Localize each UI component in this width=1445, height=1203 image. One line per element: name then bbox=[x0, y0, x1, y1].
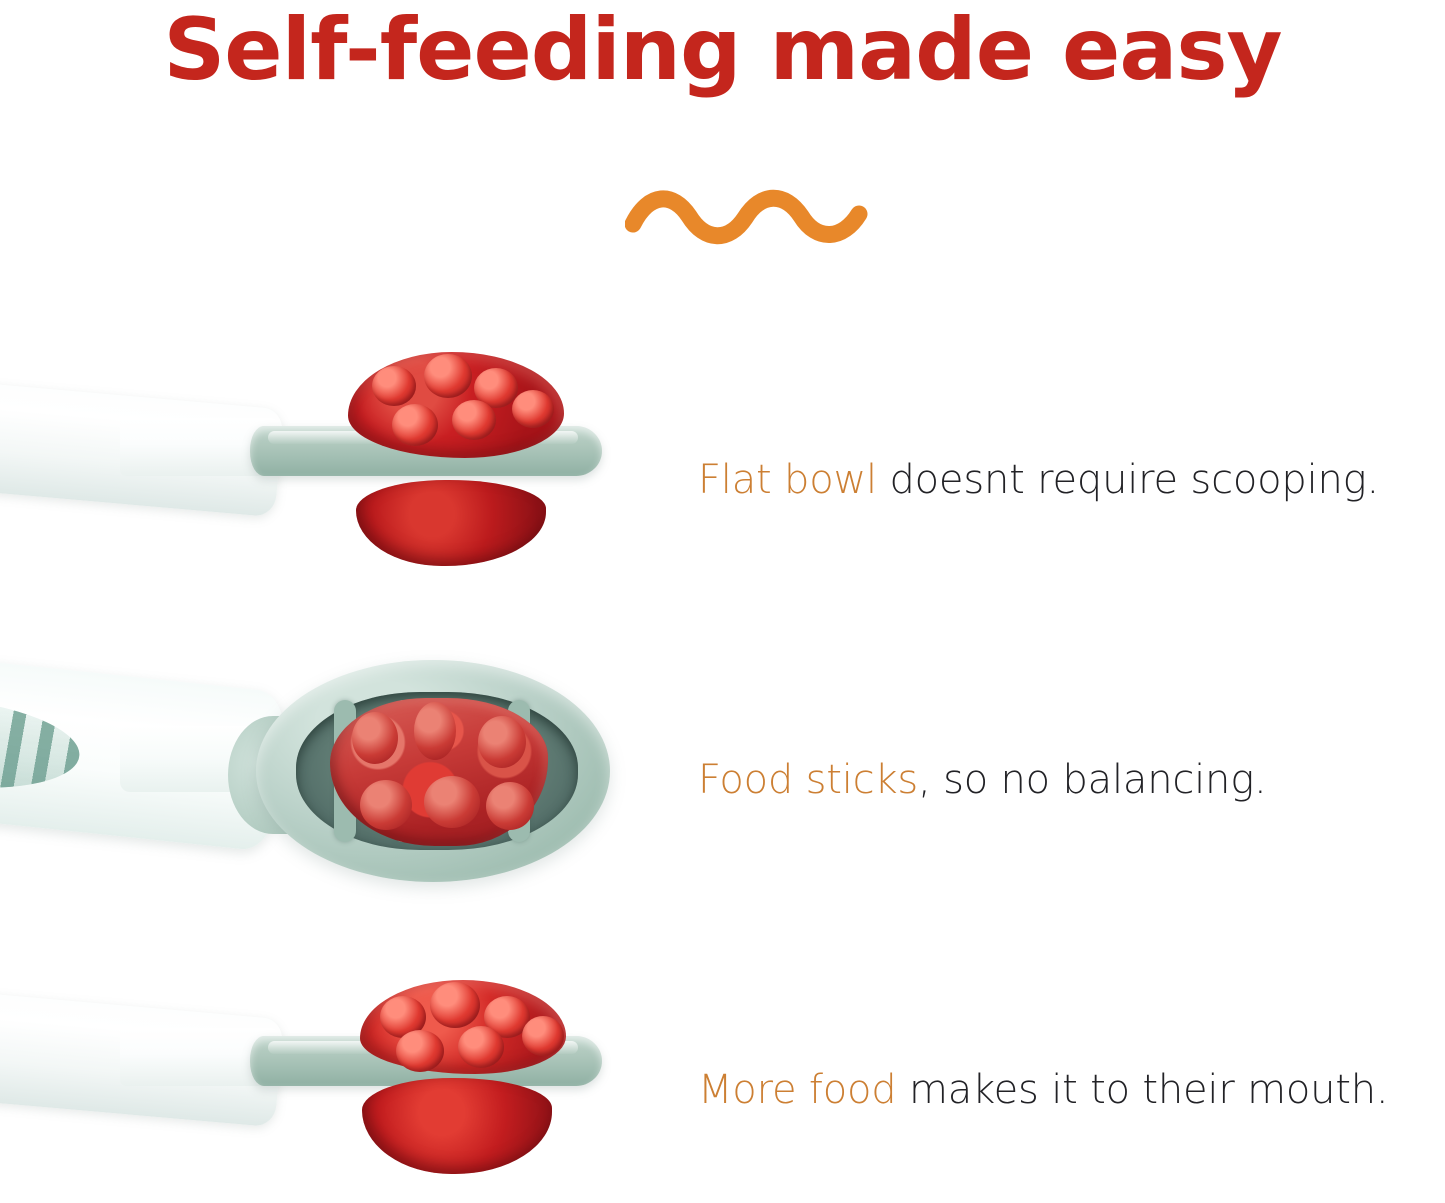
feature-rest-text: makes it to their mouth. bbox=[897, 1067, 1389, 1113]
feature-image-more-food bbox=[0, 940, 640, 1203]
food-blob bbox=[360, 780, 412, 830]
feature-text-zone-more-food: More food makes it to their mouth. bbox=[698, 940, 1445, 1203]
food-blob bbox=[486, 782, 534, 830]
feature-row-food-sticks: Food sticks, so no balancing. bbox=[0, 630, 1445, 930]
food-berry bbox=[522, 1016, 564, 1056]
feature-row-more-food: More food makes it to their mouth. bbox=[0, 940, 1445, 1203]
food-berry bbox=[396, 1030, 444, 1072]
feature-row-flat-bowl: Flat bowl doesnt require scooping. bbox=[0, 330, 1445, 630]
spoon-side-view-illustration bbox=[0, 940, 640, 1203]
wavy-line-divider-icon bbox=[625, 186, 885, 252]
feature-rest-text: doesnt require scooping. bbox=[877, 457, 1379, 503]
feature-caption: Food sticks, so no balancing. bbox=[698, 756, 1267, 804]
food-berry bbox=[512, 390, 554, 428]
feature-caption: Flat bowl doesnt require scooping. bbox=[698, 456, 1379, 504]
food-blob bbox=[352, 712, 398, 764]
product-feature-graphic: Self-feeding made easy Flat bowl doesnt … bbox=[0, 0, 1445, 1203]
food-berry bbox=[452, 400, 496, 440]
feature-text-zone-flat-bowl: Flat bowl doesnt require scooping. bbox=[698, 330, 1445, 630]
feature-image-flat-bowl bbox=[0, 330, 640, 630]
feature-rest-text: , so no balancing. bbox=[918, 757, 1266, 803]
page-title: Self-feeding made easy bbox=[0, 2, 1445, 98]
feature-text-zone-food-sticks: Food sticks, so no balancing. bbox=[698, 630, 1445, 930]
food-blob bbox=[478, 716, 526, 768]
spoon-side-view-illustration bbox=[0, 330, 640, 630]
food-berry bbox=[458, 1026, 504, 1068]
feature-highlight-text: Food sticks bbox=[698, 757, 918, 803]
food-blob bbox=[414, 702, 456, 760]
food-blob bbox=[424, 776, 480, 828]
feature-highlight-text: Flat bowl bbox=[698, 457, 877, 503]
feature-highlight-text: More food bbox=[698, 1067, 897, 1113]
food-berry bbox=[392, 404, 438, 446]
food-berry bbox=[430, 982, 480, 1028]
feature-caption: More food makes it to their mouth. bbox=[698, 1066, 1388, 1114]
food-berry bbox=[372, 366, 416, 406]
food-berry bbox=[424, 354, 472, 398]
